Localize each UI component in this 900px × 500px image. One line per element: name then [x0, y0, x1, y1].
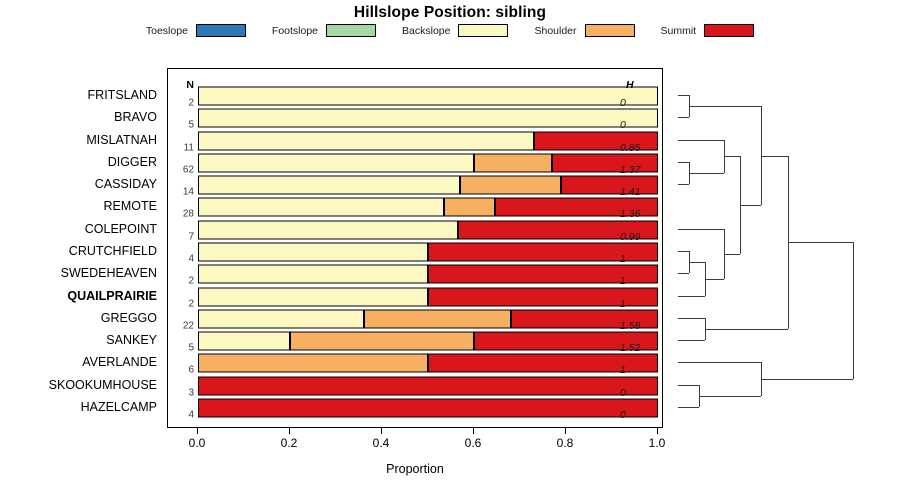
- bar-segment-backslope: [198, 287, 428, 306]
- dendrogram-link: [678, 162, 689, 163]
- bar-row: [198, 332, 658, 351]
- y-axis-label: FRITSLAND: [88, 88, 157, 102]
- x-axis-tick-label: 0.4: [373, 436, 390, 450]
- bar-row: [198, 87, 658, 106]
- dendrogram-link: [678, 251, 689, 252]
- y-axis-label: DIGGER: [108, 155, 157, 169]
- dendrogram-link: [699, 396, 761, 397]
- dendrogram-link: [678, 296, 689, 297]
- h-value: 1: [620, 275, 626, 287]
- bar-segment-shoulder: [198, 354, 428, 373]
- bar-segment-backslope: [198, 243, 428, 262]
- x-axis-tick: [565, 428, 566, 434]
- bar-segment-backslope: [198, 332, 290, 351]
- y-axis-label: AVERLANDE: [82, 355, 157, 369]
- legend-swatch: [585, 24, 635, 37]
- y-axis-label: CASSIDAY: [95, 177, 157, 191]
- y-axis-label: SANKEY: [106, 333, 157, 347]
- y-axis-label: GREGGO: [101, 311, 157, 325]
- dendrogram-link: [678, 117, 689, 118]
- bar-segment-backslope: [198, 309, 364, 328]
- y-axis-labels: FRITSLANDBRAVOMISLATNAHDIGGERCASSIDAYREM…: [0, 68, 163, 428]
- x-axis-tick-label: 0.8: [557, 436, 574, 450]
- dendrogram-link: [678, 407, 699, 408]
- x-axis-tick-label: 0.6: [465, 436, 482, 450]
- h-value: 0: [620, 409, 626, 421]
- bar-row: [198, 265, 658, 284]
- dendrogram-link: [689, 173, 723, 174]
- h-value: 0: [620, 119, 626, 131]
- dendrogram-link: [705, 329, 788, 330]
- x-axis-title: Proportion: [167, 462, 663, 476]
- legend-item: Summit: [661, 24, 755, 37]
- bar-segment-backslope: [198, 220, 458, 239]
- dendrogram-link: [740, 205, 761, 206]
- dendrogram-link: [678, 318, 705, 319]
- dendrogram-link: [678, 140, 724, 141]
- legend-item: Shoulder: [534, 24, 634, 37]
- legend-label: Shoulder: [534, 25, 576, 37]
- y-axis-label: CRUTCHFIELD: [69, 244, 157, 258]
- bar-segment-shoulder: [444, 198, 495, 217]
- dendrogram-link: [761, 156, 788, 157]
- x-axis-tick: [289, 428, 290, 434]
- h-value: 1.36: [620, 208, 640, 220]
- bar-row: [198, 220, 658, 239]
- bar-segment-backslope: [198, 109, 658, 128]
- x-axis-tick: [197, 428, 198, 434]
- dendrogram-link: [724, 156, 741, 157]
- h-column: H000.851.371.411.360.991111.581.52100: [616, 69, 662, 427]
- legend-label: Footslope: [272, 25, 318, 37]
- bar-row: [198, 243, 658, 262]
- bar-row: [198, 109, 658, 128]
- dendrogram-link: [705, 279, 724, 280]
- dendrogram-link: [678, 273, 689, 274]
- y-axis-label: COLEPOINT: [85, 222, 157, 236]
- bar-segment-shoulder: [290, 332, 474, 351]
- legend-label: Backslope: [402, 25, 450, 37]
- dendrogram-link: [689, 106, 761, 107]
- bar-row: [198, 309, 658, 328]
- h-value: 0: [620, 387, 626, 399]
- dendrogram-link: [788, 242, 852, 243]
- dendrogram: [672, 68, 898, 428]
- x-axis-tick-label: 0.0: [189, 436, 206, 450]
- h-value: 1: [620, 298, 626, 310]
- x-axis-tick: [473, 428, 474, 434]
- h-value: 1: [620, 253, 626, 265]
- h-value: 0.99: [620, 231, 640, 243]
- bar-segment-shoulder: [460, 176, 561, 195]
- dendrogram-link: [689, 262, 705, 263]
- plot-panel: N25116214287422225634 H000.851.371.411.3…: [167, 68, 663, 428]
- legend-item: Footslope: [272, 24, 376, 37]
- x-axis-tick: [657, 428, 658, 434]
- dendrogram-link: [724, 254, 741, 255]
- y-axis-label: BRAVO: [114, 110, 157, 124]
- y-axis-label: SKOOKUMHOUSE: [49, 378, 157, 392]
- dendrogram-link: [678, 184, 689, 185]
- dendrogram-link: [761, 379, 853, 380]
- dendrogram-link: [678, 362, 761, 363]
- h-value: 1.52: [620, 342, 640, 354]
- bar-row: [198, 354, 658, 373]
- h-value: 1: [620, 364, 626, 376]
- h-value: 0: [620, 97, 626, 109]
- h-value: 1.58: [620, 320, 640, 332]
- dendrogram-link: [678, 340, 705, 341]
- legend-swatch: [458, 24, 508, 37]
- legend-swatch: [196, 24, 246, 37]
- dendrogram-link: [678, 385, 699, 386]
- page-title: Hillslope Position: sibling: [0, 4, 900, 22]
- dendrogram-link: [678, 229, 724, 230]
- bar-segment-backslope: [198, 198, 444, 217]
- x-axis-tick-label: 0.2: [281, 436, 298, 450]
- bar-row: [198, 287, 658, 306]
- h-column-header: H: [626, 79, 634, 91]
- dendrogram-link: [853, 242, 854, 379]
- bar-segment-backslope: [198, 176, 460, 195]
- legend-swatch: [704, 24, 754, 37]
- y-axis-label: SWEDEHEAVEN: [61, 266, 157, 280]
- chart-figure: Hillslope Position: sibling ToeslopeFoot…: [0, 0, 900, 500]
- y-axis-label: REMOTE: [104, 199, 157, 213]
- bar-row: [198, 153, 658, 172]
- bar-segment-backslope: [198, 153, 474, 172]
- legend-label: Summit: [661, 25, 697, 37]
- y-axis-label: QUAILPRAIRIE: [67, 289, 157, 303]
- h-value: 1.37: [620, 164, 640, 176]
- bar-segment-summit: [198, 398, 658, 417]
- bar-row: [198, 131, 658, 150]
- stacked-bars: [168, 69, 662, 427]
- bar-segment-backslope: [198, 265, 428, 284]
- bar-segment-shoulder: [474, 153, 552, 172]
- legend-swatch: [326, 24, 376, 37]
- legend-item: Toeslope: [146, 24, 246, 37]
- x-axis-tick: [381, 428, 382, 434]
- bar-segment-backslope: [198, 87, 658, 106]
- h-value: 0.85: [620, 142, 640, 154]
- legend-item: Backslope: [402, 24, 508, 37]
- legend: ToeslopeFootslopeBackslopeShoulderSummit: [0, 24, 900, 37]
- y-axis-label: MISLATNAH: [86, 133, 157, 147]
- h-value: 1.41: [620, 186, 640, 198]
- bar-row: [198, 198, 658, 217]
- dendrogram-link: [689, 296, 705, 297]
- bar-segment-summit: [198, 376, 658, 395]
- bar-segment-shoulder: [364, 309, 511, 328]
- bar-row: [198, 376, 658, 395]
- bar-row: [198, 176, 658, 195]
- legend-label: Toeslope: [146, 25, 188, 37]
- dendrogram-link: [678, 95, 689, 96]
- bar-row: [198, 398, 658, 417]
- y-axis-label: HAZELCAMP: [81, 400, 157, 414]
- bar-segment-backslope: [198, 131, 534, 150]
- x-axis-tick-label: 1.0: [649, 436, 666, 450]
